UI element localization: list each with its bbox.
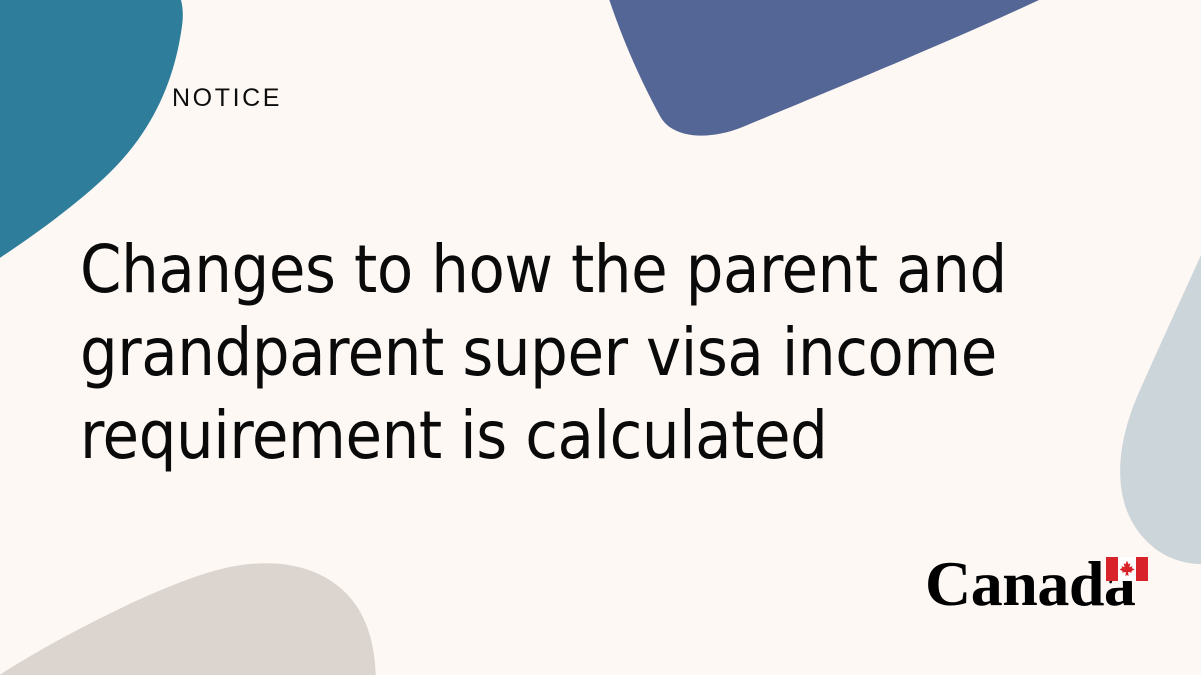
pale-blue-blob-right-shape — [1120, 120, 1201, 564]
canada-flag-icon — [1106, 557, 1148, 581]
taupe-blob-bottom-left-shape — [0, 563, 376, 675]
canada-wordmark-text: Canada — [925, 552, 1135, 616]
headline-line-3: requirement is calculated — [80, 394, 1040, 477]
page-title: Changes to how the parent and grandparen… — [80, 228, 1040, 477]
slate-blue-blob-top-shape — [592, 0, 1150, 136]
notice-graphic: NOTICE Changes to how the parent and gra… — [0, 0, 1201, 675]
canada-wordmark: Canada — [925, 552, 1150, 624]
headline-line-1: Changes to how the parent and — [80, 228, 1040, 311]
headline-line-2: grandparent super visa income — [80, 311, 1040, 394]
eyebrow-label: NOTICE — [172, 86, 282, 111]
